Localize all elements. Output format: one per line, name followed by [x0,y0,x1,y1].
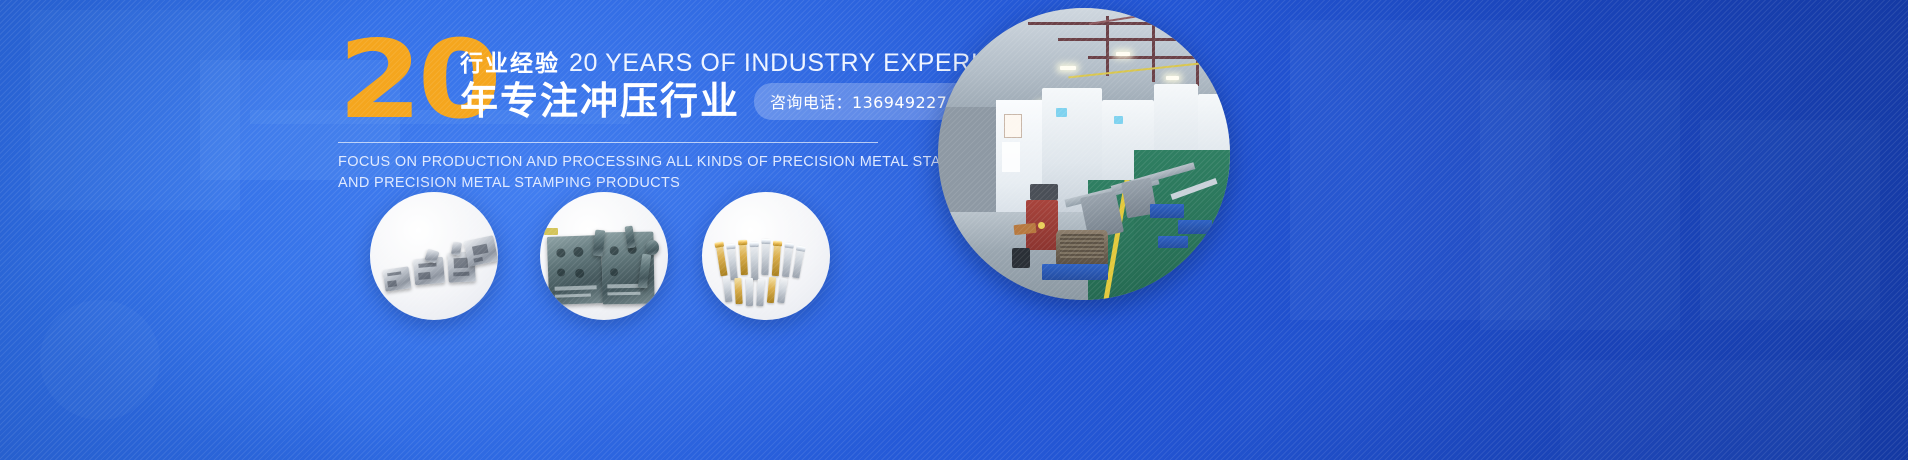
headline-cn-small: 行业经验 [460,44,560,78]
headline-block: 20 行业经验 20 YEARS OF INDUSTRY EXPERIENCE … [338,36,938,194]
factory-photo-circle [938,8,1230,300]
subtitle-block: FOCUS ON PRODUCTION AND PROCESSING ALL K… [338,152,938,194]
product-circle-terminal-pins [702,192,830,320]
subtitle-line-2: AND PRECISION METAL STAMPING PRODUCTS [338,173,938,194]
headline-row: 20 行业经验 20 YEARS OF INDUSTRY EXPERIENCE … [338,36,938,128]
subtitle-line-1: FOCUS ON PRODUCTION AND PROCESSING ALL K… [338,152,938,173]
headline-cn-large: 年专注冲压行业 [460,82,740,122]
product-circle-connector-shells [370,192,498,320]
product-circle-stamping-mold [540,192,668,320]
promo-banner: 20 行业经验 20 YEARS OF INDUSTRY EXPERIENCE … [0,0,1908,460]
